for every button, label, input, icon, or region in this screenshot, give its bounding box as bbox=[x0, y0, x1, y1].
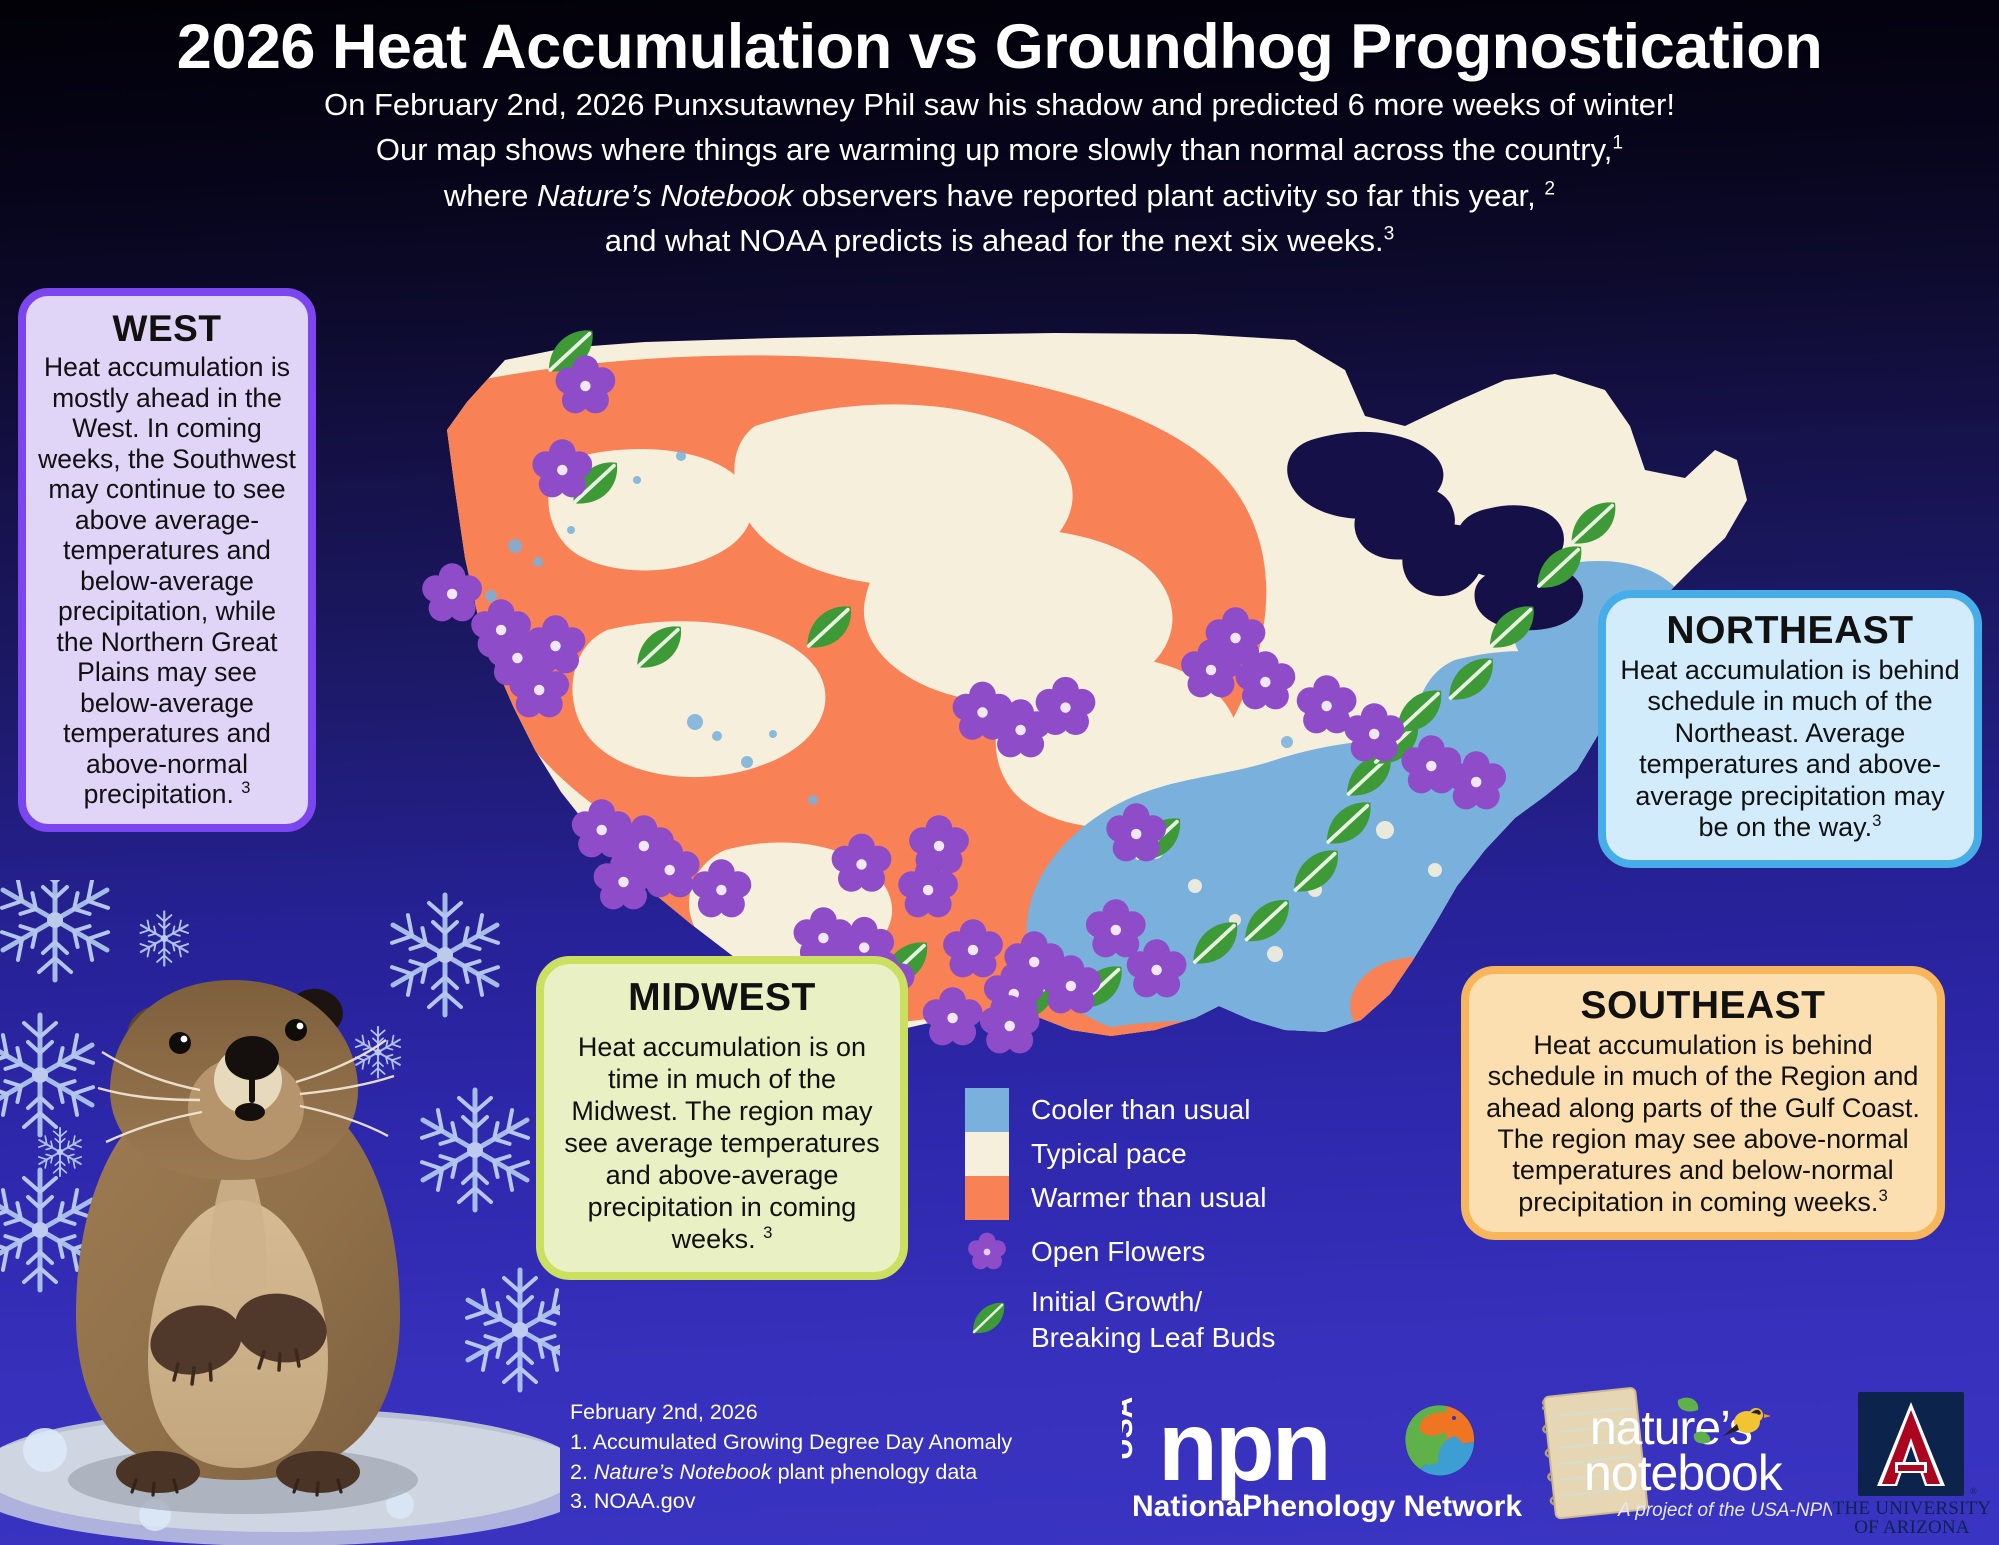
subtitle-line-4-text: and what NOAA predicts is ahead for the … bbox=[605, 223, 1384, 258]
subtitle-line-2: Our map shows where things are warming u… bbox=[0, 129, 1999, 170]
legend-label-typical: Typical pace bbox=[1031, 1132, 1267, 1176]
region-panel-southeast[interactable]: SOUTHEAST Heat accumulation is behind sc… bbox=[1461, 966, 1945, 1240]
footnote-1: 1. Accumulated Growing Degree Day Anomal… bbox=[570, 1428, 1012, 1458]
legend-color-ramp: Cooler than usual Typical pace Warmer th… bbox=[965, 1088, 1385, 1220]
svg-text:®: ® bbox=[1970, 1486, 1977, 1496]
usa-npn-logo[interactable]: USA npn National Phenology Network bbox=[1122, 1388, 1522, 1538]
panel-body-text-west: Heat accumulation is mostly ahead in the… bbox=[38, 352, 296, 809]
legend-row-initial-growth: Initial Growth/ Breaking Leaf Buds bbox=[965, 1284, 1385, 1357]
page-title: 2026 Heat Accumulation vs Groundhog Prog… bbox=[0, 14, 1999, 80]
region-panel-west[interactable]: WEST Heat accumulation is mostly ahead i… bbox=[18, 288, 316, 832]
flower-icon bbox=[965, 1230, 1009, 1274]
panel-body-text-southeast: Heat accumulation is behind schedule in … bbox=[1486, 1030, 1920, 1217]
usa-npn-logo-national: National bbox=[1132, 1490, 1250, 1523]
panel-ref-west: 3 bbox=[241, 779, 250, 797]
panel-body-west: Heat accumulation is mostly ahead in the… bbox=[38, 352, 296, 810]
panel-ref-midwest: 3 bbox=[763, 1223, 772, 1242]
footnote-ref-3: 3 bbox=[1384, 223, 1395, 244]
header: 2026 Heat Accumulation vs Groundhog Prog… bbox=[0, 14, 1999, 261]
panel-heading-southeast: SOUTHEAST bbox=[1485, 984, 1921, 1028]
legend-row-open-flowers: Open Flowers bbox=[965, 1230, 1385, 1274]
natures-notebook-logo-tagline: A project of the USA-NPN bbox=[1617, 1500, 1832, 1521]
groundhog-illustration bbox=[28, 940, 448, 1540]
panel-ref-southeast: 3 bbox=[1878, 1186, 1887, 1205]
subtitle-line-3: where Nature’s Notebook observers have r… bbox=[0, 175, 1999, 216]
usa-npn-logo-usa: USA bbox=[1122, 1397, 1139, 1460]
logo-row: USA npn National Phenology Network bbox=[1122, 1382, 1982, 1537]
footnote-2: 2. Nature’s Notebook plant phenology dat… bbox=[570, 1458, 1012, 1488]
university-of-arizona-line1: THE UNIVERSITY bbox=[1833, 1498, 1992, 1519]
infographic-canvas: 2026 Heat Accumulation vs Groundhog Prog… bbox=[0, 0, 1999, 1545]
usa-npn-logo-phenology-network: Phenology Network bbox=[1242, 1490, 1522, 1523]
natures-notebook-logo-line2: notebook bbox=[1584, 1445, 1784, 1501]
panel-heading-west: WEST bbox=[38, 308, 296, 350]
leaf-icon bbox=[965, 1298, 1009, 1342]
region-panel-northeast[interactable]: NORTHEAST Heat accumulation is behind sc… bbox=[1598, 590, 1982, 868]
subtitle-line-4: and what NOAA predicts is ahead for the … bbox=[0, 220, 1999, 261]
panel-ref-northeast: 3 bbox=[1872, 811, 1881, 830]
panel-body-southeast: Heat accumulation is behind schedule in … bbox=[1485, 1030, 1921, 1218]
university-of-arizona-logo[interactable]: ® THE UNIVERSITY OF ARIZONA bbox=[1832, 1388, 1992, 1538]
legend-label-initial-growth-line2: Breaking Leaf Buds bbox=[1031, 1322, 1275, 1353]
legend-label-cooler: Cooler than usual bbox=[1031, 1088, 1267, 1132]
footnote-2-emphasis: Nature’s Notebook bbox=[594, 1460, 772, 1484]
panel-body-text-northeast: Heat accumulation is behind schedule in … bbox=[1620, 655, 1959, 842]
usa-npn-logo-mark bbox=[1404, 1404, 1476, 1476]
panel-heading-northeast: NORTHEAST bbox=[1620, 609, 1960, 653]
legend-label-initial-growth: Initial Growth/ Breaking Leaf Buds bbox=[1031, 1284, 1275, 1357]
university-of-arizona-line2: OF ARIZONA bbox=[1854, 1517, 1970, 1538]
legend-swatch-warmer bbox=[965, 1176, 1009, 1220]
subtitle-line-2-text: Our map shows where things are warming u… bbox=[376, 132, 1613, 167]
usa-npn-logo-npn: npn bbox=[1158, 1391, 1329, 1501]
footnotes: February 2nd, 2026 1. Accumulated Growin… bbox=[570, 1398, 1012, 1517]
legend-label-initial-growth-line1: Initial Growth/ bbox=[1031, 1286, 1202, 1317]
panel-body-northeast: Heat accumulation is behind schedule in … bbox=[1620, 655, 1960, 844]
footnote-date: February 2nd, 2026 bbox=[570, 1398, 1012, 1428]
footnote-3: 3. NOAA.gov bbox=[570, 1487, 1012, 1517]
subtitle-line-3-prefix: where bbox=[444, 178, 537, 213]
legend-label-warmer: Warmer than usual bbox=[1031, 1176, 1267, 1220]
natures-notebook-logo[interactable]: nature’s notebook A project of the USA-N… bbox=[1542, 1382, 1832, 1532]
panel-body-text-midwest: Heat accumulation is on time in much of … bbox=[564, 1032, 879, 1254]
legend-swatch-cooler bbox=[965, 1088, 1009, 1132]
footnote-ref-1: 1 bbox=[1612, 133, 1623, 154]
legend-label-open-flowers: Open Flowers bbox=[1031, 1238, 1205, 1266]
map-legend: Cooler than usual Typical pace Warmer th… bbox=[965, 1088, 1385, 1357]
footnote-ref-2: 2 bbox=[1544, 178, 1555, 199]
legend-swatch-typical bbox=[965, 1132, 1009, 1176]
region-panel-midwest[interactable]: MIDWEST Heat accumulation is on time in … bbox=[536, 956, 908, 1280]
panel-heading-midwest: MIDWEST bbox=[560, 976, 884, 1020]
panel-body-midwest: Heat accumulation is on time in much of … bbox=[560, 1032, 884, 1256]
legend-ramp-swatches bbox=[965, 1088, 1009, 1220]
footnote-2-number: 2. bbox=[570, 1460, 594, 1484]
footnote-2-rest: plant phenology data bbox=[772, 1460, 978, 1484]
subtitle-line-1: On February 2nd, 2026 Punxsutawney Phil … bbox=[0, 84, 1999, 125]
natures-notebook-mention: Nature’s Notebook bbox=[537, 178, 793, 213]
subtitle-line-3-suffix: observers have reported plant activity s… bbox=[793, 178, 1544, 213]
legend-ramp-labels: Cooler than usual Typical pace Warmer th… bbox=[1031, 1088, 1267, 1220]
